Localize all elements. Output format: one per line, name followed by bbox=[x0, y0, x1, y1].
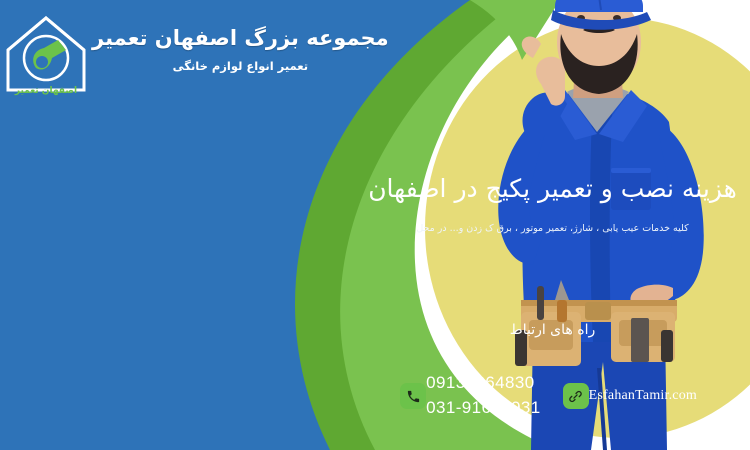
phone-contact[interactable]: 09136864830 031-91690931 bbox=[400, 371, 550, 420]
tool-trowel-handle bbox=[557, 300, 567, 322]
website-contact[interactable]: EsfahanTamir.com bbox=[563, 383, 706, 409]
tool-screwdriver bbox=[537, 286, 544, 320]
tool-multi bbox=[631, 318, 649, 362]
tool-hammer-head bbox=[515, 330, 527, 366]
phone-number-landline: 031-91690931 bbox=[426, 396, 540, 421]
contact-row: 09136864830 031-91690931 EsfahanTamir.co… bbox=[390, 372, 750, 420]
phone-numbers: 09136864830 031-91690931 bbox=[426, 371, 550, 420]
chest-pocket-flap bbox=[611, 168, 651, 173]
tool-wrench bbox=[661, 330, 673, 362]
phone-icon bbox=[400, 383, 426, 409]
website-label: EsfahanTamir.com bbox=[589, 388, 706, 404]
phone-number-mobile: 09136864830 bbox=[426, 371, 540, 396]
promo-banner: اصفهان تعمیر مجموعه بزرگ اصفهان تعمیر تع… bbox=[0, 0, 750, 450]
belt-pouch-left bbox=[529, 320, 573, 350]
belt-buckle bbox=[585, 302, 611, 320]
chest-pocket bbox=[611, 168, 651, 210]
link-icon bbox=[563, 383, 589, 409]
